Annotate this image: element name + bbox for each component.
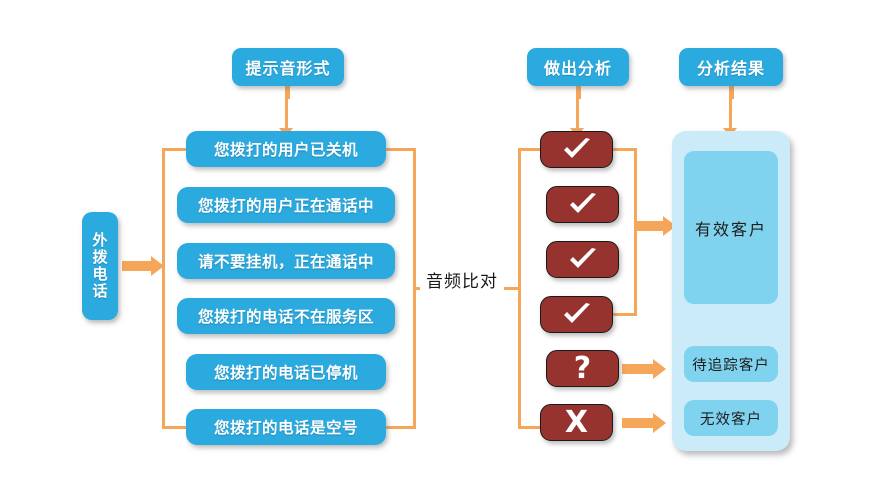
source-line-2: 拨 — [82, 249, 118, 266]
connector-analysis-drop — [576, 99, 579, 131]
symbol-box-check-4[interactable] — [540, 296, 613, 333]
message-box-3[interactable]: 请不要挂机，正在通话中 — [177, 243, 395, 279]
center-caption-audio-compare: 音频比对 — [420, 265, 504, 294]
connector-symbols-spine — [518, 148, 521, 429]
center-caption-label: 音频比对 — [426, 272, 498, 292]
connector-messages-bottom — [162, 426, 188, 429]
result-label: 有效客户 — [695, 216, 767, 240]
message-box-5[interactable]: 您拨打的电话已停机 — [186, 354, 386, 390]
arrow-to-invalid-customer — [622, 413, 668, 433]
header-stub-prompt — [285, 86, 290, 99]
symbol-box-check-1[interactable] — [540, 131, 613, 168]
header-make-analysis[interactable]: 做出分析 — [527, 48, 629, 86]
connector-msg6-out — [386, 426, 416, 429]
header-label: 做出分析 — [544, 55, 612, 79]
message-label: 您拨打的用户已关机 — [214, 138, 358, 160]
arrow-to-pending-customer — [622, 359, 668, 379]
result-pending-customer[interactable]: 待追踪客户 — [684, 346, 778, 382]
result-invalid-customer[interactable]: 无效客户 — [684, 400, 778, 436]
connector-symbol1-in — [518, 148, 541, 151]
arrow-to-valid-customer — [634, 216, 676, 236]
symbol-box-check-2[interactable] — [546, 186, 619, 223]
header-label: 提示音形式 — [245, 55, 330, 79]
check-icon — [568, 248, 598, 272]
header-prompt-tone-format[interactable]: 提示音形式 — [232, 48, 344, 86]
header-analysis-result[interactable]: 分析结果 — [679, 48, 783, 86]
result-label: 无效客户 — [700, 408, 762, 429]
source-line-3: 电 — [82, 266, 118, 283]
result-valid-customer[interactable]: 有效客户 — [684, 151, 778, 304]
message-box-2[interactable]: 您拨打的用户正在通话中 — [177, 187, 395, 223]
message-label: 您拨打的电话不在服务区 — [198, 305, 374, 327]
x-mark-icon: X — [565, 408, 588, 438]
message-box-4[interactable]: 您拨打的电话不在服务区 — [177, 298, 395, 334]
connector-messages-top — [162, 148, 188, 151]
connector-result-drop — [729, 99, 732, 131]
source-line-1: 外 — [82, 232, 118, 249]
connector-msg1-out — [386, 148, 416, 151]
message-box-6[interactable]: 您拨打的电话是空号 — [186, 409, 386, 445]
message-box-1[interactable]: 您拨打的用户已关机 — [186, 131, 386, 167]
message-label: 您拨打的电话是空号 — [214, 416, 358, 438]
connector-messages-spine — [162, 148, 165, 429]
symbol-box-question[interactable]: ? — [546, 350, 619, 387]
result-panel: 有效客户 待追踪客户 无效客户 — [672, 131, 790, 451]
check-icon — [562, 303, 592, 327]
message-label: 您拨打的电话已停机 — [214, 361, 358, 383]
check-icon — [562, 138, 592, 162]
connector-symbol6-in — [518, 426, 541, 429]
header-stub-result — [729, 86, 734, 99]
source-line-4: 话 — [82, 283, 118, 300]
symbol-box-cross[interactable]: X — [540, 404, 613, 441]
message-label: 请不要挂机，正在通话中 — [198, 250, 374, 272]
connector-prompt-drop — [285, 99, 288, 131]
arrow-source-to-messages — [122, 256, 164, 276]
header-stub-analysis — [576, 86, 581, 99]
message-label: 您拨打的用户正在通话中 — [198, 194, 374, 216]
symbol-box-check-3[interactable] — [546, 241, 619, 278]
check-icon — [568, 193, 598, 217]
result-label: 待追踪客户 — [692, 354, 770, 375]
header-label: 分析结果 — [697, 55, 765, 79]
flowchart-canvas: 提示音形式 做出分析 分析结果 外 拨 电 话 您拨打的用户已关机 您拨打的用户… — [0, 0, 884, 484]
question-mark-icon: ? — [574, 354, 591, 384]
source-box-outbound-call[interactable]: 外 拨 电 话 — [82, 212, 118, 320]
